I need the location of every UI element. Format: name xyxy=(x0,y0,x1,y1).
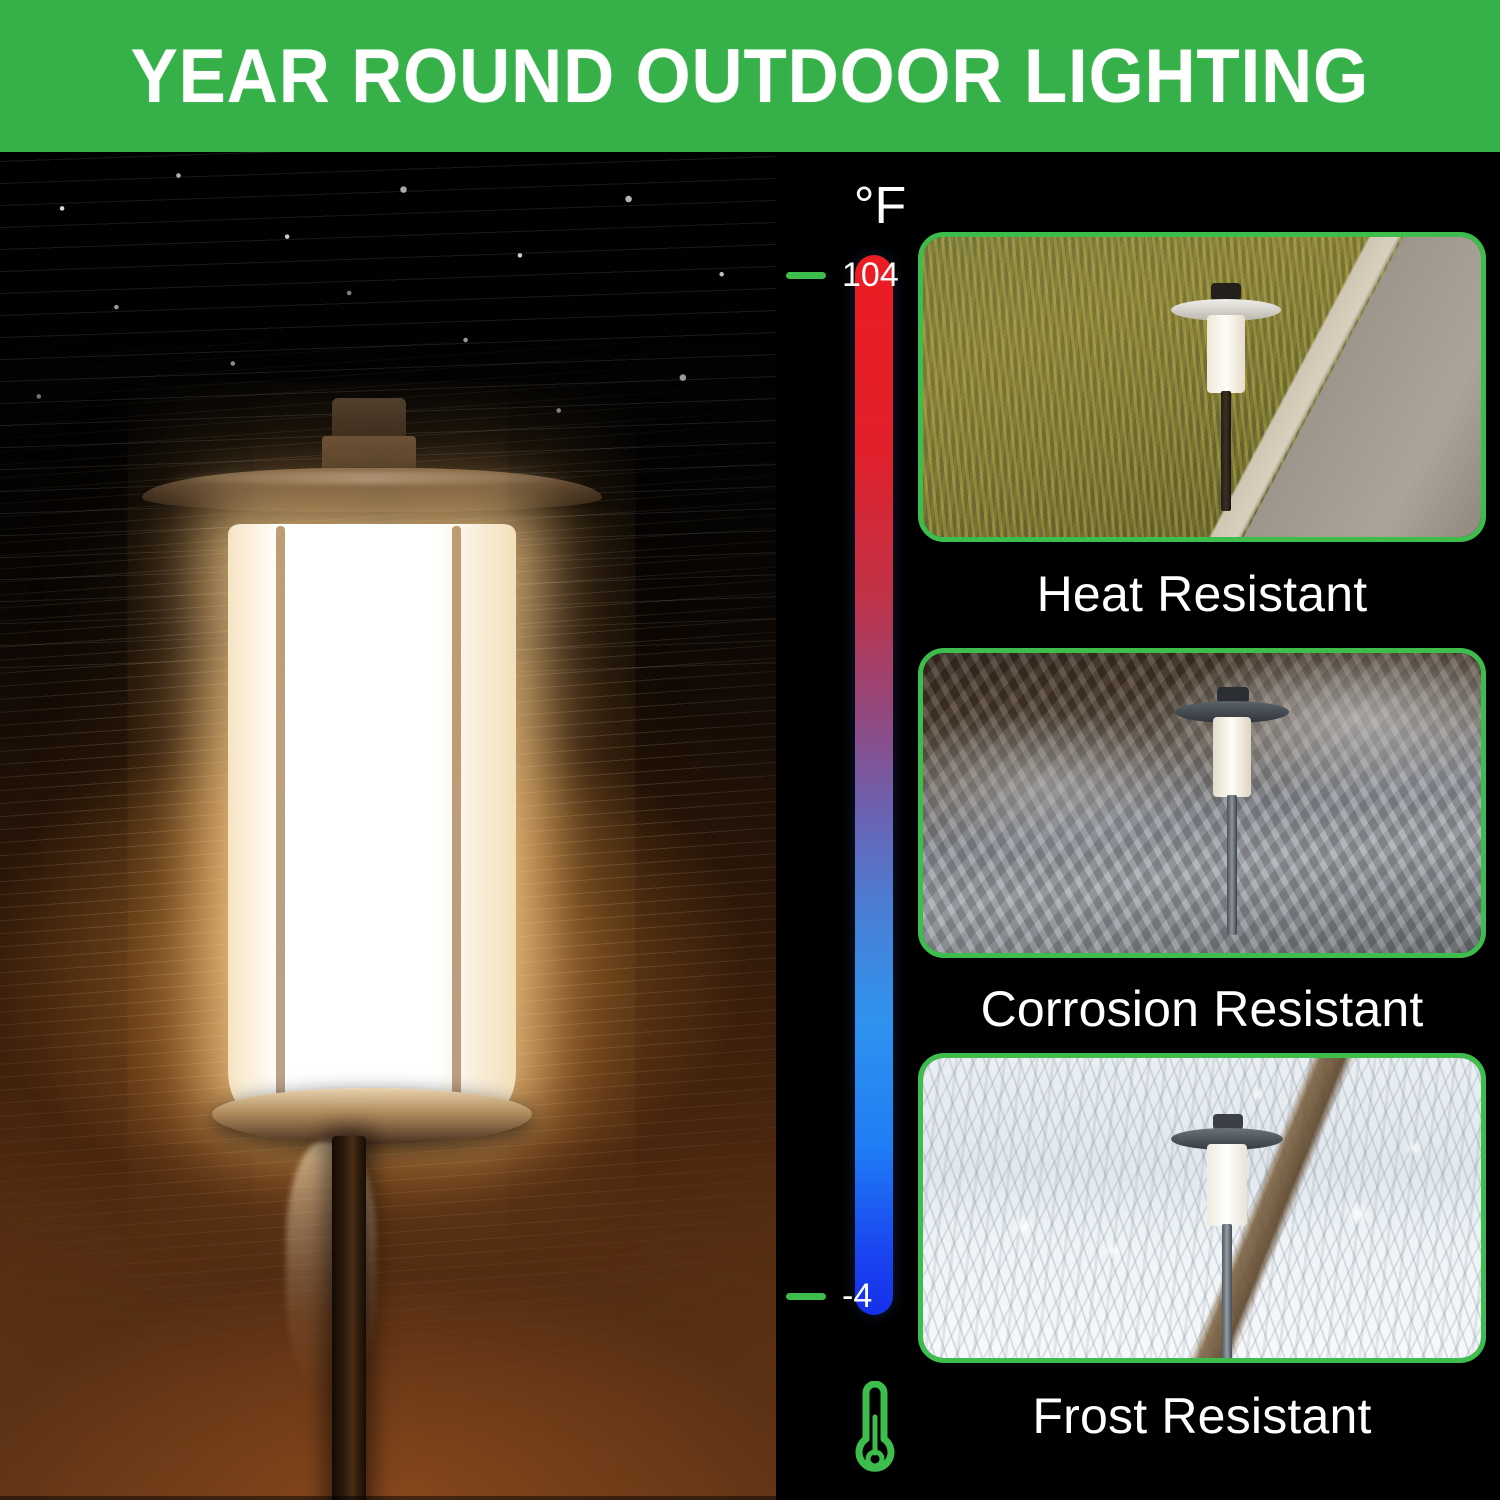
header-banner: YEAR ROUND OUTDOOR LIGHTING xyxy=(0,0,1500,152)
mini-lamp-glass xyxy=(1207,315,1245,393)
page-title: YEAR ROUND OUTDOOR LIGHTING xyxy=(131,33,1369,120)
temperature-tick-low: -4 xyxy=(786,1277,872,1316)
thermometer-icon xyxy=(836,1381,914,1485)
temperature-low-value: -4 xyxy=(842,1277,872,1316)
lamp-rib-right xyxy=(452,526,461,1110)
lamp-shade-highlight xyxy=(160,472,580,484)
tick-dash-icon xyxy=(786,1293,826,1300)
mini-path-light xyxy=(1171,283,1281,513)
feature-card-heat[interactable] xyxy=(918,232,1486,542)
lamp-cap-icon xyxy=(332,398,406,438)
infographic-root: YEAR ROUND OUTDOOR LIGHTING xyxy=(0,0,1500,1500)
mini-path-light xyxy=(1171,1114,1283,1363)
temperature-high-value: 104 xyxy=(842,256,899,295)
feature-label-heat: Heat Resistant xyxy=(918,565,1486,623)
mini-path-light xyxy=(1175,687,1289,937)
temperature-unit-label: °F xyxy=(845,176,915,236)
mini-lamp-pole xyxy=(1227,795,1237,935)
lamp-stem xyxy=(332,1136,366,1500)
feature-label-corrosion: Corrosion Resistant xyxy=(918,980,1486,1038)
mini-lamp-pole xyxy=(1221,391,1231,511)
feature-card-corrosion[interactable] xyxy=(918,648,1486,958)
feature-label-frost: Frost Resistant xyxy=(918,1387,1486,1445)
mini-lamp-glass xyxy=(1213,717,1251,797)
lamp-neck xyxy=(322,436,416,470)
tick-dash-icon xyxy=(786,272,826,279)
lamp-diffuser xyxy=(228,524,516,1112)
mini-lamp-glass xyxy=(1207,1144,1247,1226)
hero-photo: IP65 Waterproof xyxy=(0,152,776,1500)
mini-lamp-pole xyxy=(1222,1224,1232,1363)
temperature-tick-high: 104 xyxy=(786,256,899,295)
lamp-rib-left xyxy=(276,526,285,1110)
ip65-waterproof-badge: IP65 Waterproof xyxy=(0,1496,776,1500)
temperature-gradient-bar xyxy=(855,255,893,1315)
feature-card-frost[interactable] xyxy=(918,1053,1486,1363)
